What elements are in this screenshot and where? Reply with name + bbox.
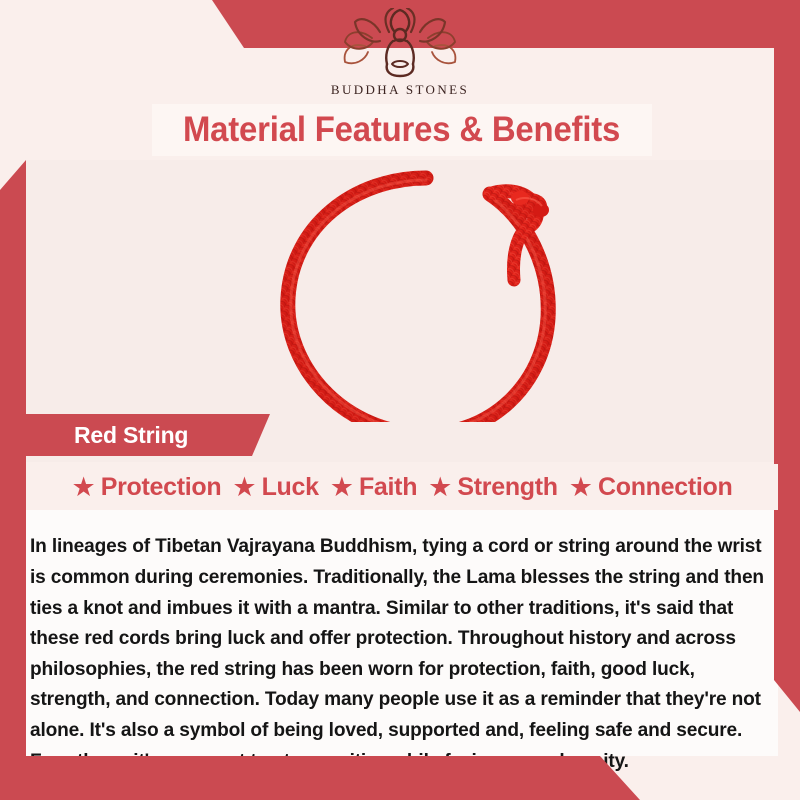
benefit-label: Luck: [262, 473, 319, 502]
star-icon: ★: [72, 474, 96, 501]
product-label: Red String: [18, 422, 188, 449]
title-banner: Material Features & Benefits: [152, 104, 652, 156]
benefit-item: ★ Luck: [232, 473, 318, 502]
star-icon: ★: [428, 474, 452, 501]
star-icon: ★: [569, 474, 593, 501]
benefit-label: Protection: [101, 473, 222, 502]
product-label-banner: Red String: [18, 414, 270, 456]
benefit-label: Connection: [598, 473, 733, 502]
benefit-label: Faith: [359, 473, 417, 502]
bottom-red-bar: [0, 756, 640, 800]
benefit-item: ★ Faith: [330, 473, 417, 502]
benefit-item: ★ Connection: [569, 473, 733, 502]
description-area: In lineages of Tibetan Vajrayana Buddhis…: [26, 510, 778, 756]
benefit-item: ★ Strength: [428, 473, 558, 502]
benefit-label: Strength: [457, 473, 557, 502]
product-image-area: [26, 160, 778, 422]
page-title: Material Features & Benefits: [183, 110, 620, 150]
brand-logo: BUDDHA STONES: [290, 8, 510, 98]
product-infographic-poster: BUDDHA STONES Material Features & Benefi…: [0, 0, 800, 800]
benefit-item: ★ Protection: [72, 473, 222, 502]
star-icon: ★: [232, 474, 256, 501]
brand-name: BUDDHA STONES: [290, 82, 510, 98]
left-red-bar: [0, 160, 26, 800]
red-string-bracelet-image: [258, 162, 598, 422]
star-icon: ★: [330, 474, 354, 501]
description-text: In lineages of Tibetan Vajrayana Buddhis…: [30, 531, 767, 776]
lotus-meditation-icon: [335, 8, 465, 80]
benefits-row: ★ Protection ★ Luck ★ Faith ★ Strength ★…: [26, 464, 778, 510]
